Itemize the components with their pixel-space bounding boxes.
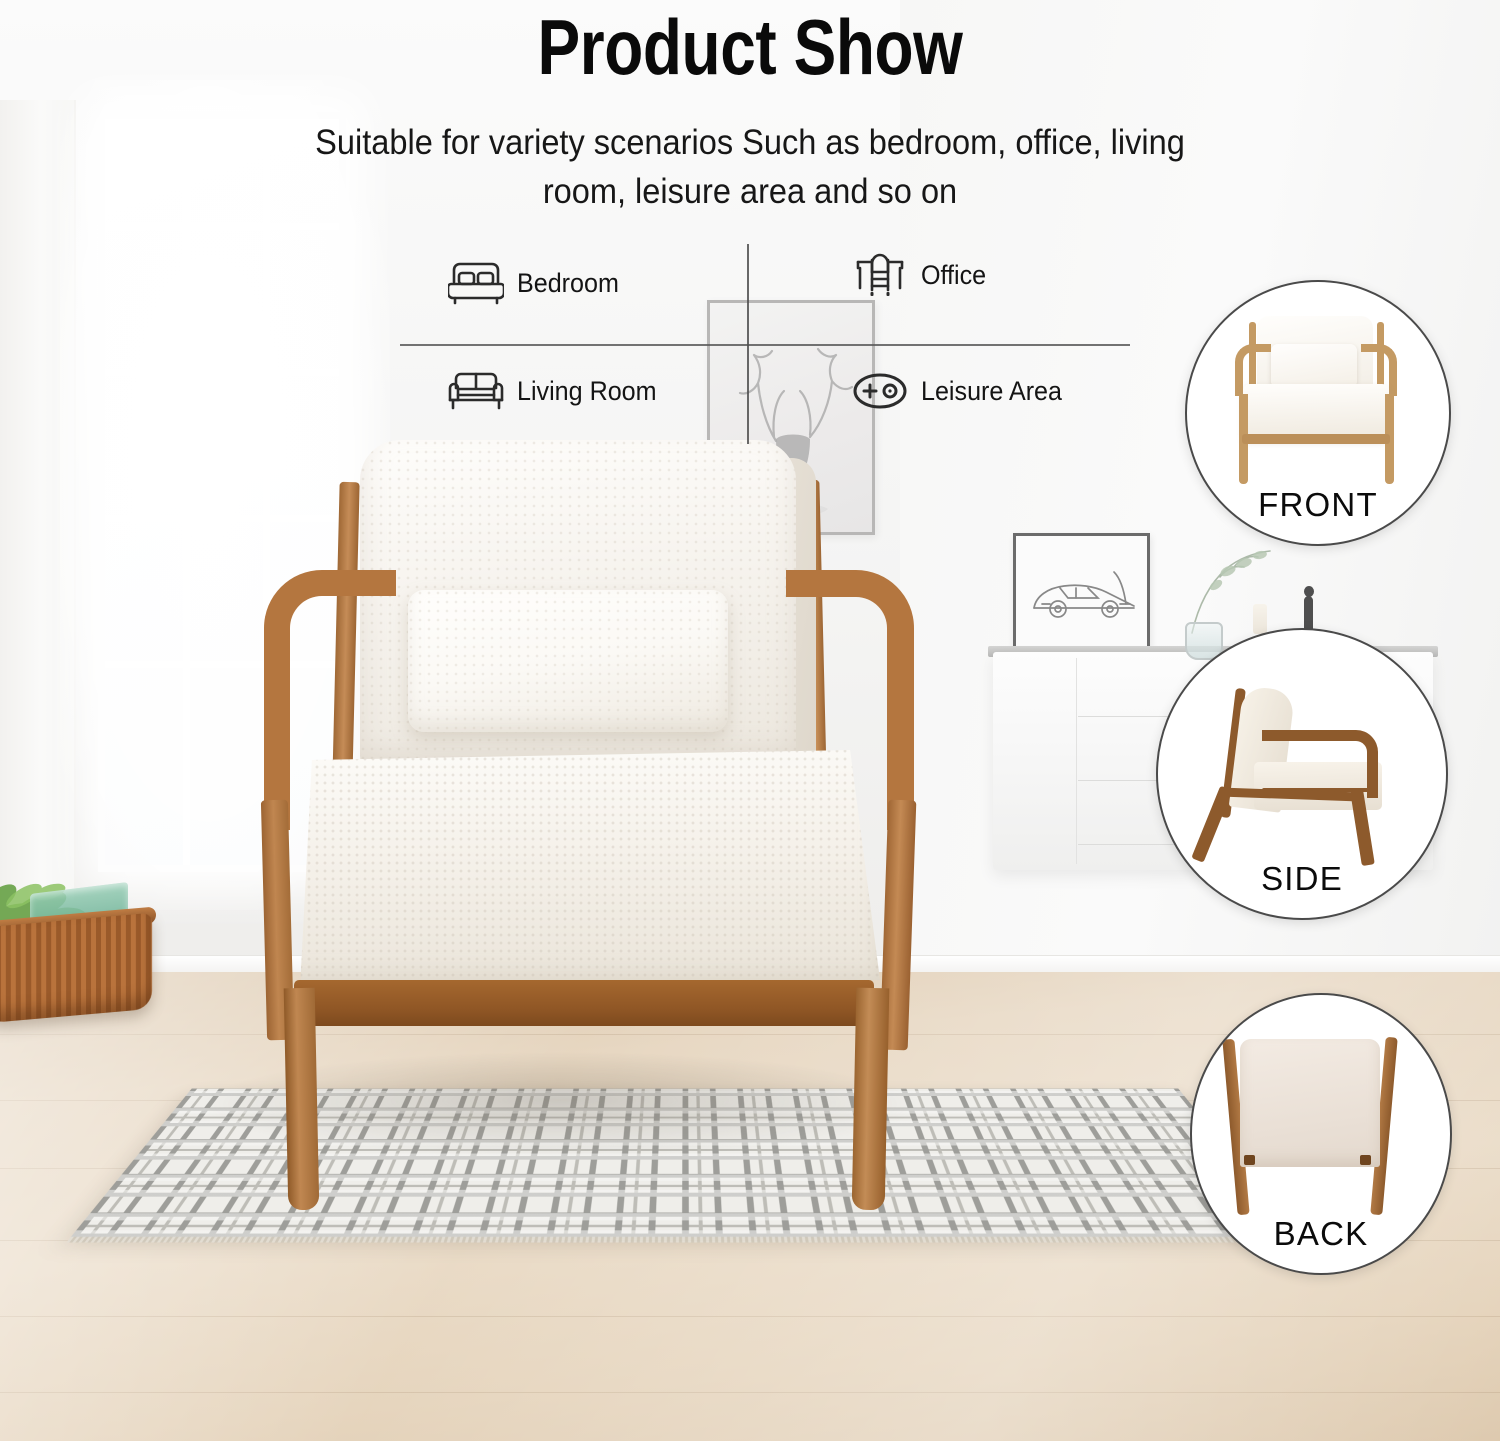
view-caption: FRONT [1187, 486, 1449, 524]
view-callout-front[interactable]: FRONT [1185, 280, 1451, 546]
chair-leg-front-right [852, 988, 890, 1211]
bed-icon [448, 260, 504, 306]
chair-armrest-left [264, 570, 396, 830]
game-controller-icon [852, 368, 908, 414]
rug-fringe [66, 1237, 1303, 1243]
view-caption: BACK [1192, 1215, 1450, 1253]
figurine-decor [1300, 586, 1317, 632]
curtain [0, 100, 74, 900]
scenario-item-office[interactable]: Office [852, 252, 991, 298]
car-icon [1026, 564, 1142, 626]
product-show-image: Product Show Suitable for variety scenar… [0, 0, 1500, 1441]
office-chair-icon [852, 252, 908, 298]
window-mullion-horizontal [105, 223, 339, 230]
chair-front-rail [294, 980, 874, 1026]
window-mullion-vertical [183, 119, 190, 865]
chair-armrest-right [786, 570, 914, 830]
sofa-icon [448, 368, 504, 414]
scenario-label: Leisure Area [921, 376, 1062, 407]
view-callout-side[interactable]: SIDE [1156, 628, 1448, 920]
window-mullion-horizontal [105, 369, 339, 376]
scenario-label: Living Room [517, 376, 657, 407]
page-subtitle: Suitable for variety scenarios Such as b… [276, 118, 1225, 216]
scenario-grid: Bedroom Office [400, 240, 1140, 440]
scenario-label: Bedroom [517, 268, 619, 299]
wall-corner [74, 100, 76, 930]
candle-decor [1253, 604, 1267, 634]
chair-lumbar-pillow [408, 590, 728, 732]
page-title: Product Show [135, 4, 1365, 90]
scenario-label: Office [921, 260, 986, 291]
divider-horizontal [400, 344, 1130, 346]
main-product-armchair [258, 440, 918, 1200]
sideboard-art-car-frame [1013, 533, 1150, 653]
scenario-item-leisure-area[interactable]: Leisure Area [852, 368, 1073, 414]
wicker-basket [0, 913, 152, 1024]
chair-leg-front-left [284, 988, 320, 1211]
view-callout-back[interactable]: BACK [1190, 993, 1452, 1275]
view-caption: SIDE [1158, 860, 1446, 898]
divider-vertical [747, 244, 749, 444]
scenario-item-living-room[interactable]: Living Room [448, 368, 667, 414]
scenario-item-bedroom[interactable]: Bedroom [448, 260, 627, 306]
